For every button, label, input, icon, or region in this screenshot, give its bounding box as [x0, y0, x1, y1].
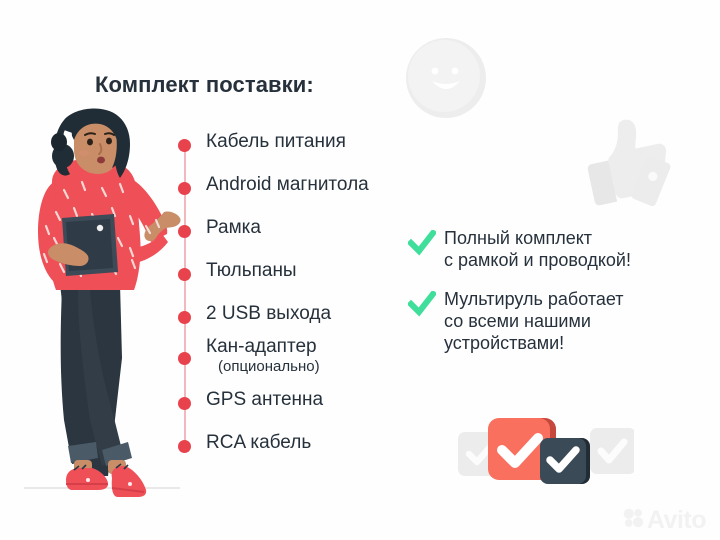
check-icon	[408, 230, 436, 256]
benefit-text: Мультируль работает со всеми нашими устр…	[444, 289, 624, 355]
bullet-dot-icon	[178, 311, 191, 324]
bullet-dot-icon	[178, 440, 191, 453]
benefits-list: Полный комплект с рамкой и проводкой! Му…	[408, 228, 698, 355]
list-item-label: Рамка	[206, 217, 261, 239]
list-item-label: 2 USB выхода	[206, 303, 331, 325]
list-item-label: Кан-адаптер	[206, 336, 317, 358]
list-item-label: Android магнитола	[206, 174, 369, 196]
bullet-dot-icon	[178, 139, 191, 152]
benefit-item: Полный комплект с рамкой и проводкой!	[408, 228, 698, 272]
checkbox-group-icon	[458, 408, 634, 492]
list-item-label: Кабель питания	[206, 131, 346, 153]
page-title: Комплект поставки:	[95, 72, 314, 98]
woman-with-tablet-illustration	[16, 108, 186, 500]
list-item-label: Тюльпаны	[206, 260, 297, 282]
bullet-dot-icon	[178, 182, 191, 195]
smiley-face-icon	[404, 36, 488, 120]
list-item-label: GPS антенна	[206, 389, 323, 411]
promo-banner: Комплект поставки: Кабель питания Androi…	[0, 0, 720, 540]
bullet-dot-icon	[178, 268, 191, 281]
list-item-label: RCA кабель	[206, 432, 311, 454]
avito-logo-icon	[622, 507, 644, 534]
thumbs-up-icon	[578, 112, 682, 210]
benefit-text: Полный комплект с рамкой и проводкой!	[444, 228, 631, 272]
bullet-dot-icon	[178, 225, 191, 238]
list-item-sublabel: (опционально)	[218, 358, 320, 375]
avito-watermark: Avito	[622, 507, 706, 534]
bullet-dot-icon	[178, 397, 191, 410]
benefit-item: Мультируль работает со всеми нашими устр…	[408, 289, 698, 355]
bullet-dot-icon	[178, 352, 191, 365]
check-icon	[408, 291, 436, 317]
avito-watermark-text: Avito	[647, 508, 706, 533]
